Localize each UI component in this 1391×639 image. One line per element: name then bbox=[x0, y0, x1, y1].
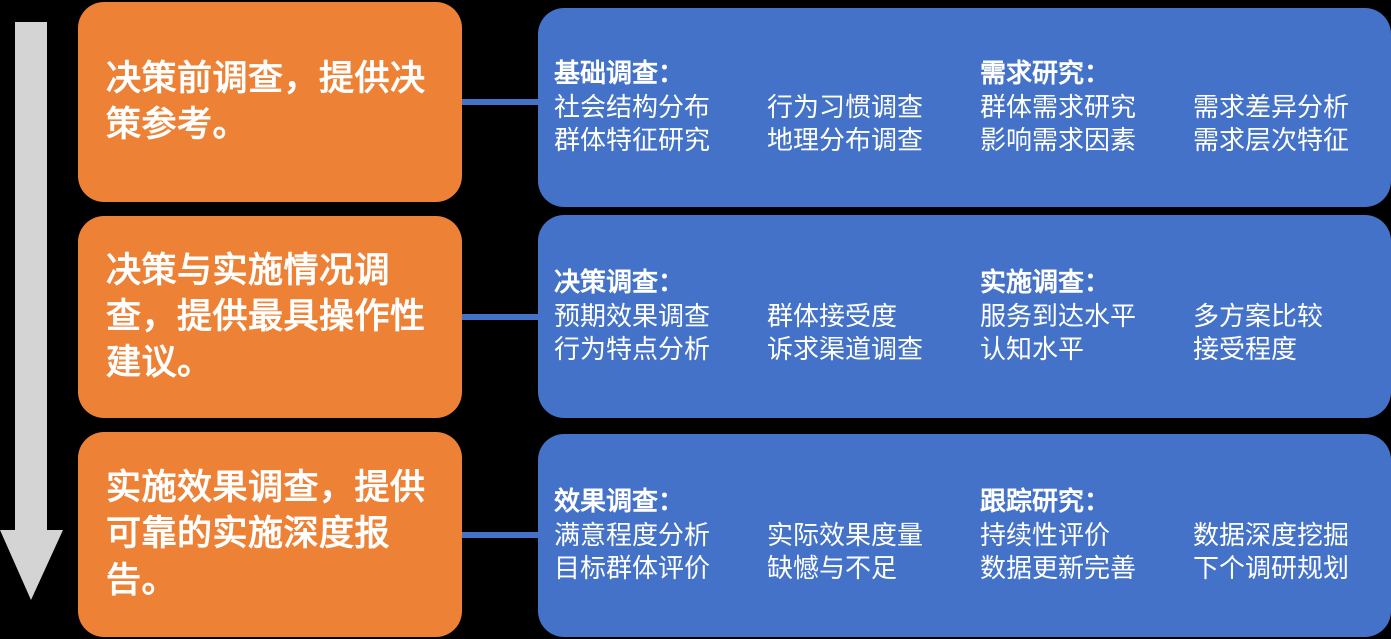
detail-item: 数据更新完善 bbox=[980, 552, 1187, 585]
detail-item: 诉求渠道调查 bbox=[767, 333, 974, 366]
detail-group-columns: 社会结构分布 群体特征研究 行为习惯调查 地理分布调查 bbox=[554, 91, 980, 158]
connector-line bbox=[462, 314, 540, 320]
detail-group-columns: 服务到达水平 认知水平 多方案比较 接受程度 bbox=[980, 300, 1391, 367]
detail-column: 群体需求研究 影响需求因素 bbox=[980, 91, 1193, 158]
detail-group: 实施调查： 服务到达水平 认知水平 多方案比较 接受程度 bbox=[980, 267, 1391, 367]
detail-column: 群体接受度 诉求渠道调查 bbox=[767, 300, 980, 367]
detail-item: 影响需求因素 bbox=[980, 124, 1187, 157]
detail-column: 持续性评价 数据更新完善 bbox=[980, 519, 1193, 586]
detail-item: 需求差异分析 bbox=[1193, 91, 1391, 124]
connector-line bbox=[462, 99, 540, 105]
detail-group: 需求研究： 群体需求研究 影响需求因素 需求差异分析 需求层次特征 bbox=[980, 58, 1391, 158]
detail-column: 多方案比较 接受程度 bbox=[1193, 300, 1391, 367]
detail-group-title: 跟踪研究： bbox=[980, 486, 1391, 517]
detail-panel[interactable]: 基础调查： 社会结构分布 群体特征研究 行为习惯调查 地理分布调查 需求研究： bbox=[538, 8, 1391, 207]
process-diagram: 决策前调查，提供决策参考。 基础调查： 社会结构分布 群体特征研究 行为习惯调查… bbox=[0, 0, 1391, 639]
detail-item: 持续性评价 bbox=[980, 519, 1187, 552]
detail-group: 基础调查： 社会结构分布 群体特征研究 行为习惯调查 地理分布调查 bbox=[554, 58, 980, 158]
stage-box[interactable]: 实施效果调查，提供可靠的实施深度报告。 bbox=[78, 432, 462, 637]
detail-group-columns: 预期效果调查 行为特点分析 群体接受度 诉求渠道调查 bbox=[554, 300, 980, 367]
detail-column: 服务到达水平 认知水平 bbox=[980, 300, 1193, 367]
detail-item: 接受程度 bbox=[1193, 333, 1391, 366]
detail-group: 决策调查： 预期效果调查 行为特点分析 群体接受度 诉求渠道调查 bbox=[554, 267, 980, 367]
detail-panel[interactable]: 决策调查： 预期效果调查 行为特点分析 群体接受度 诉求渠道调查 实施调查： bbox=[538, 215, 1391, 418]
process-row: 实施效果调查，提供可靠的实施深度报告。 效果调查： 满意程度分析 目标群体评价 … bbox=[0, 432, 1391, 637]
detail-group-title: 决策调查： bbox=[554, 267, 980, 298]
stage-box[interactable]: 决策前调查，提供决策参考。 bbox=[78, 2, 462, 202]
detail-item: 群体接受度 bbox=[767, 300, 974, 333]
detail-groups: 决策调查： 预期效果调查 行为特点分析 群体接受度 诉求渠道调查 实施调查： bbox=[554, 267, 1391, 367]
detail-item: 多方案比较 bbox=[1193, 300, 1391, 333]
detail-item: 群体特征研究 bbox=[554, 124, 761, 157]
detail-item: 预期效果调查 bbox=[554, 300, 761, 333]
process-row: 决策与实施情况调查，提供最具操作性建议。 决策调查： 预期效果调查 行为特点分析… bbox=[0, 216, 1391, 418]
detail-item: 地理分布调查 bbox=[767, 124, 974, 157]
detail-panel[interactable]: 效果调查： 满意程度分析 目标群体评价 实际效果度量 缺憾与不足 跟踪研究： bbox=[538, 434, 1391, 637]
detail-item: 满意程度分析 bbox=[554, 519, 761, 552]
detail-item: 行为习惯调查 bbox=[767, 91, 974, 124]
detail-item: 需求层次特征 bbox=[1193, 124, 1391, 157]
stage-label: 实施效果调查，提供可靠的实施深度报告。 bbox=[106, 465, 436, 604]
stage-box[interactable]: 决策与实施情况调查，提供最具操作性建议。 bbox=[78, 216, 462, 418]
detail-group: 效果调查： 满意程度分析 目标群体评价 实际效果度量 缺憾与不足 bbox=[554, 486, 980, 586]
detail-group-columns: 持续性评价 数据更新完善 数据深度挖掘 下个调研规划 bbox=[980, 519, 1391, 586]
detail-item: 目标群体评价 bbox=[554, 552, 761, 585]
detail-item: 群体需求研究 bbox=[980, 91, 1187, 124]
detail-column: 社会结构分布 群体特征研究 bbox=[554, 91, 767, 158]
detail-group-columns: 满意程度分析 目标群体评价 实际效果度量 缺憾与不足 bbox=[554, 519, 980, 586]
detail-group: 跟踪研究： 持续性评价 数据更新完善 数据深度挖掘 下个调研规划 bbox=[980, 486, 1391, 586]
detail-column: 满意程度分析 目标群体评价 bbox=[554, 519, 767, 586]
stage-label: 决策与实施情况调查，提供最具操作性建议。 bbox=[106, 248, 436, 387]
process-row: 决策前调查，提供决策参考。 基础调查： 社会结构分布 群体特征研究 行为习惯调查… bbox=[0, 2, 1391, 202]
detail-groups: 基础调查： 社会结构分布 群体特征研究 行为习惯调查 地理分布调查 需求研究： bbox=[554, 58, 1391, 158]
detail-item: 数据深度挖掘 bbox=[1193, 519, 1391, 552]
detail-column: 数据深度挖掘 下个调研规划 bbox=[1193, 519, 1391, 586]
detail-column: 需求差异分析 需求层次特征 bbox=[1193, 91, 1391, 158]
detail-column: 预期效果调查 行为特点分析 bbox=[554, 300, 767, 367]
detail-group-title: 效果调查： bbox=[554, 486, 980, 517]
detail-item: 实际效果度量 bbox=[767, 519, 974, 552]
detail-item: 社会结构分布 bbox=[554, 91, 761, 124]
detail-group-title: 基础调查： bbox=[554, 58, 980, 89]
connector-line bbox=[462, 532, 540, 538]
detail-item: 行为特点分析 bbox=[554, 333, 761, 366]
detail-groups: 效果调查： 满意程度分析 目标群体评价 实际效果度量 缺憾与不足 跟踪研究： bbox=[554, 486, 1391, 586]
detail-item: 缺憾与不足 bbox=[767, 552, 974, 585]
detail-group-title: 实施调查： bbox=[980, 267, 1391, 298]
detail-group-columns: 群体需求研究 影响需求因素 需求差异分析 需求层次特征 bbox=[980, 91, 1391, 158]
detail-column: 行为习惯调查 地理分布调查 bbox=[767, 91, 980, 158]
detail-group-title: 需求研究： bbox=[980, 58, 1391, 89]
detail-item: 下个调研规划 bbox=[1193, 552, 1391, 585]
stage-label: 决策前调查，提供决策参考。 bbox=[106, 56, 436, 148]
detail-column: 实际效果度量 缺憾与不足 bbox=[767, 519, 980, 586]
detail-item: 认知水平 bbox=[980, 333, 1187, 366]
detail-item: 服务到达水平 bbox=[980, 300, 1187, 333]
